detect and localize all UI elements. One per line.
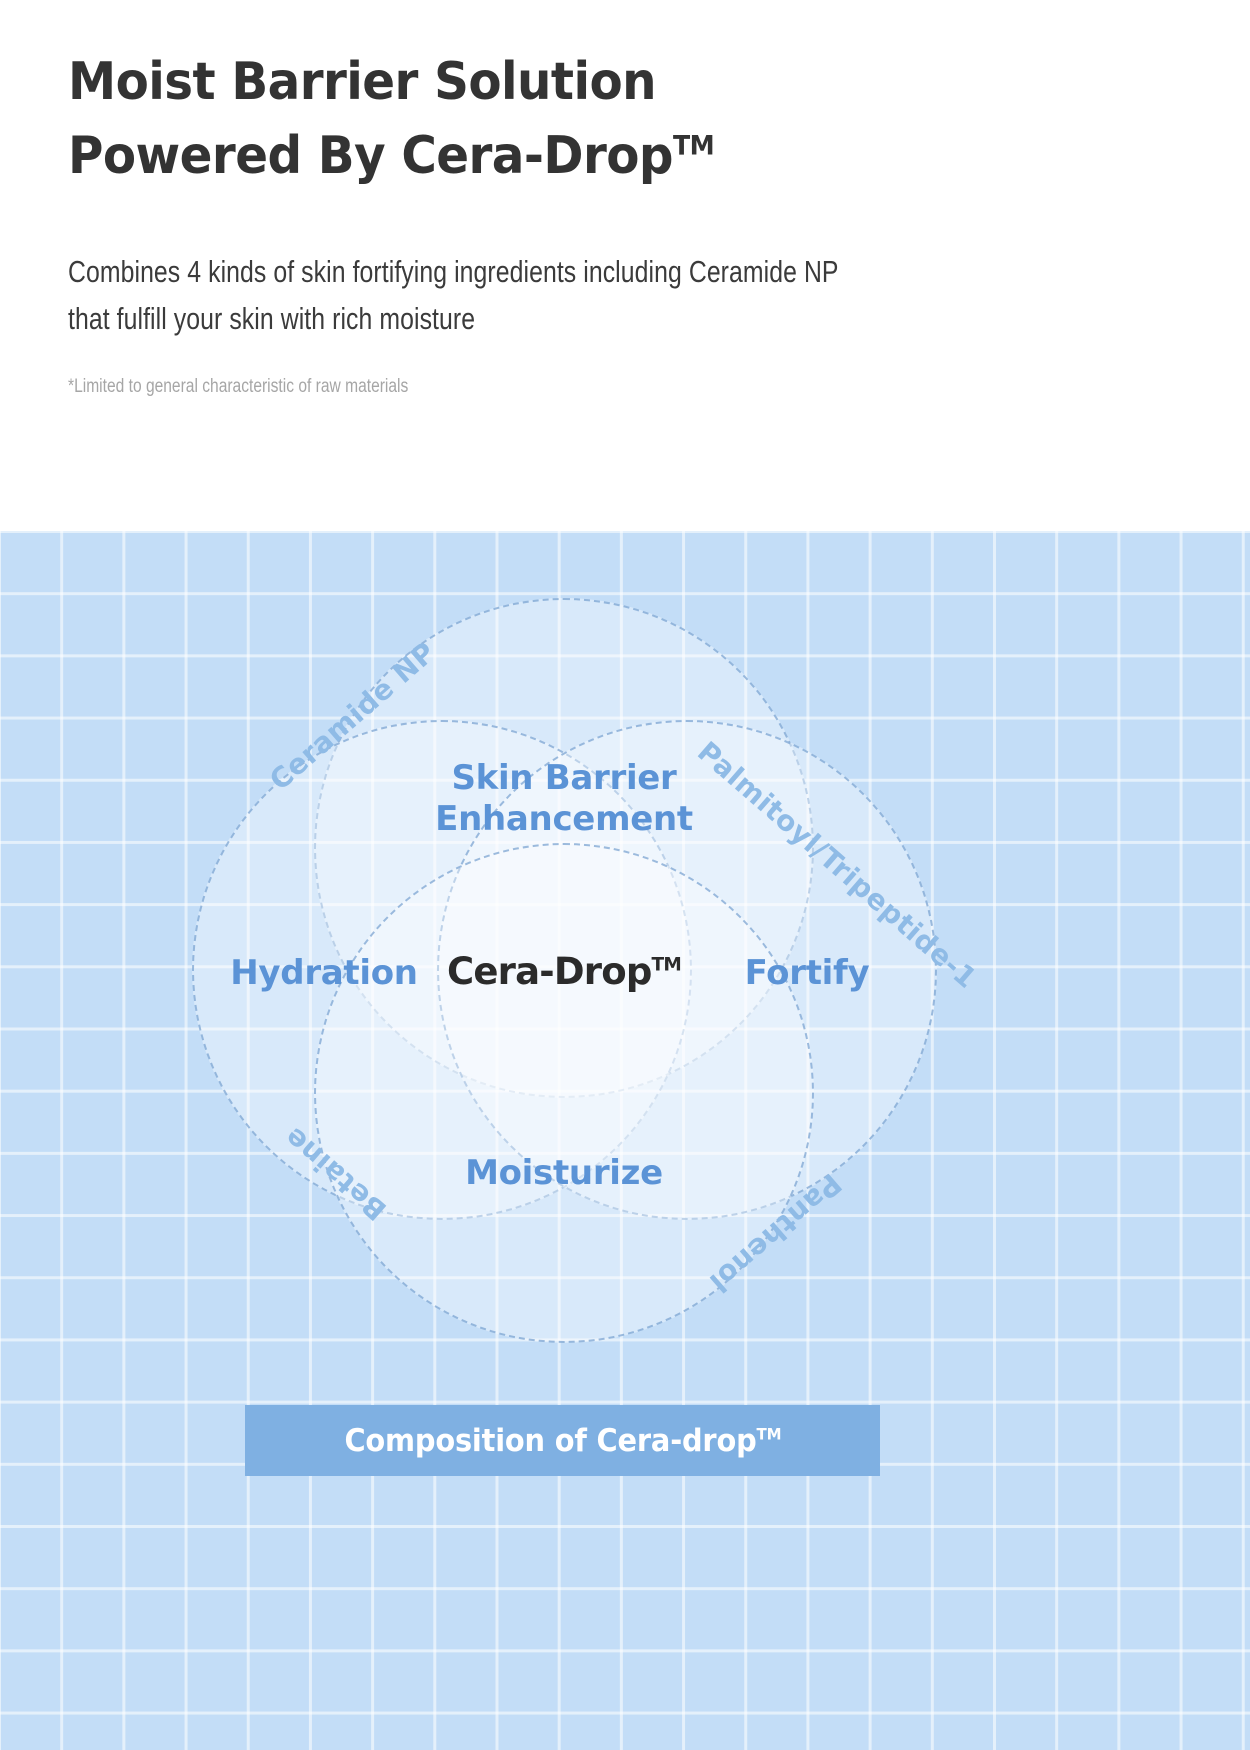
banner-trademark-icon: TM [756,1424,781,1443]
composition-banner-label: Composition of Cera-dropTM [344,1423,781,1459]
page-root: Moist Barrier Solution Powered By Cera-D… [0,0,1250,1750]
venn-center-label: Cera-DropTM [414,950,714,993]
title-trademark-icon: TM [673,131,714,162]
venn-diagram-panel: Skin Barrier Enhancement Hydration Forti… [0,531,1250,1750]
center-trademark-icon: TM [652,955,681,976]
benefit-label-moisturize: Moisturize [414,1153,714,1194]
benefit-label-fortify: Fortify [697,953,917,994]
page-subtitle: Combines 4 kinds of skin fortifying ingr… [68,248,1014,342]
page-footnote: *Limited to general characteristic of ra… [68,376,1037,398]
benefit-label-hydration: Hydration [214,953,434,994]
benefit-label-skin-barrier-enhancement: Skin Barrier Enhancement [414,758,714,841]
composition-banner-text: Composition of Cera-drop [344,1423,756,1459]
page-title-text: Moist Barrier Solution Powered By Cera-D… [68,52,673,186]
venn-diagram: Skin Barrier Enhancement Hydration Forti… [192,598,937,1343]
venn-center-label-text: Cera-Drop [447,950,651,993]
header-section: Moist Barrier Solution Powered By Cera-D… [0,0,1250,531]
composition-banner: Composition of Cera-dropTM [245,1405,880,1476]
page-title: Moist Barrier Solution Powered By Cera-D… [68,46,1167,194]
